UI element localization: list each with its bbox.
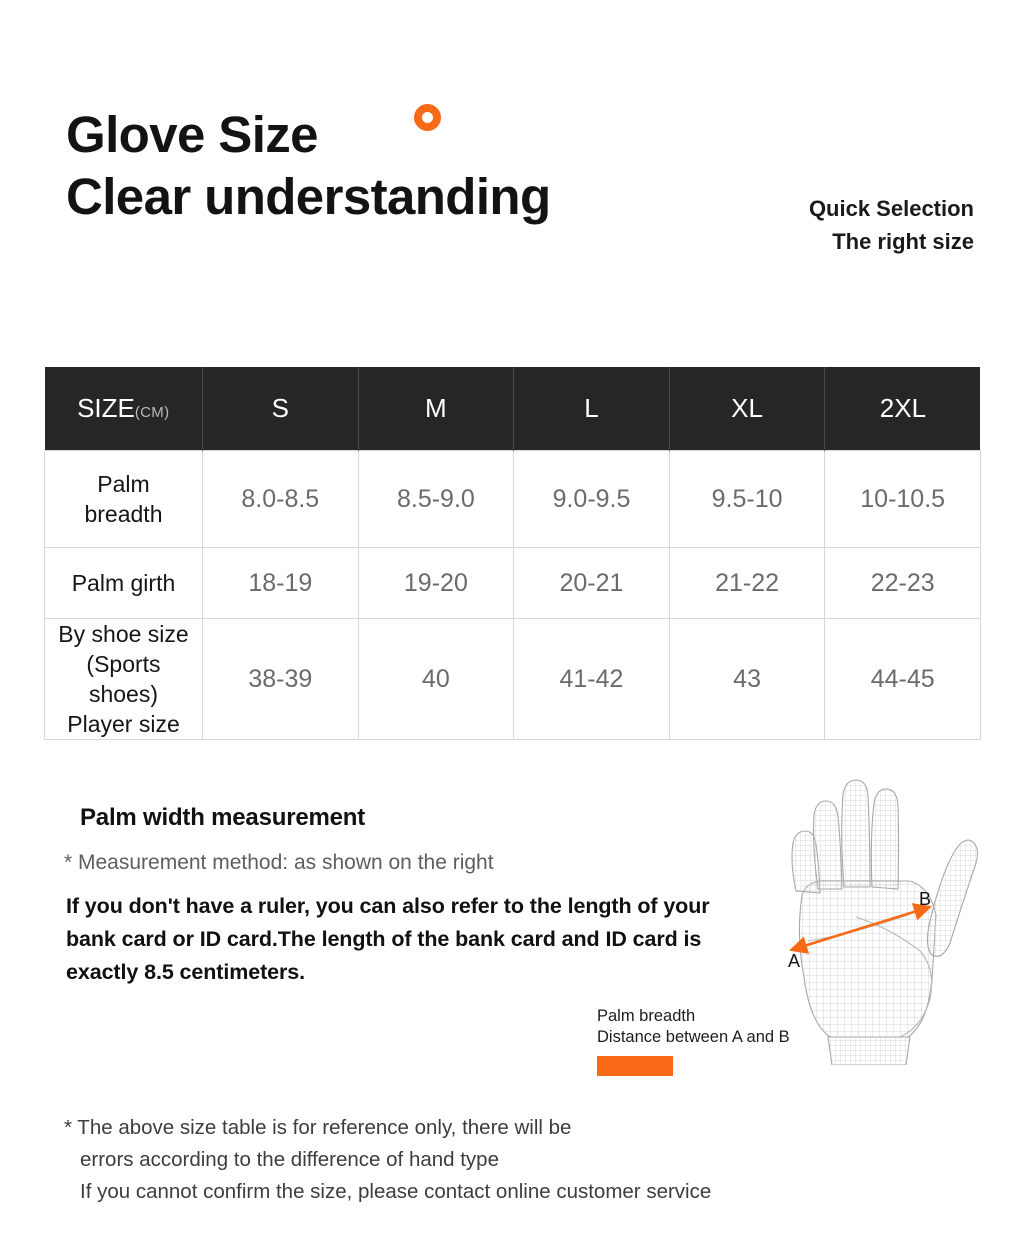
table-header-row: SIZE(CM) S M L XL 2XL	[45, 367, 981, 451]
table-row: Palm breadth 8.0-8.5 8.5-9.0 9.0-9.5 9.5…	[45, 451, 981, 548]
row-label-line: Palm girth	[45, 568, 202, 598]
row-label-shoe-size: By shoe size (Sports shoes) Player size	[45, 619, 203, 740]
row-label-line: Palm	[45, 469, 202, 499]
footer-line-2: errors according to the difference of ha…	[64, 1144, 964, 1176]
row-label-line: (Sports shoes)	[45, 649, 202, 709]
table-cell: 41-42	[514, 619, 670, 740]
table-cell: 10-10.5	[825, 451, 981, 548]
orange-swatch	[597, 1056, 673, 1076]
table-cell: 43	[669, 619, 825, 740]
header-subtitle: Quick Selection The right size	[809, 192, 974, 258]
table-cell: 20-21	[514, 548, 670, 619]
table-cell: 22-23	[825, 548, 981, 619]
subtitle-line-2: The right size	[809, 225, 974, 258]
index-finger	[871, 789, 898, 889]
header-block: Glove Size Clear understanding Quick Sel…	[0, 0, 1024, 300]
title-line-1-text: Glove Size	[66, 106, 318, 163]
point-b-label: B	[919, 889, 931, 909]
table-cell: 18-19	[203, 548, 359, 619]
title-line-1: Glove Size	[66, 104, 551, 166]
table-header-xl: XL	[669, 367, 825, 451]
table-cell: 8.5-9.0	[358, 451, 514, 548]
table-row: Palm girth 18-19 19-20 20-21 21-22 22-23	[45, 548, 981, 619]
table-cell: 44-45	[825, 619, 981, 740]
table-cell: 8.0-8.5	[203, 451, 359, 548]
table-cell: 40	[358, 619, 514, 740]
table-header-s: S	[203, 367, 359, 451]
table-header-m: M	[358, 367, 514, 451]
wrist-cuff	[828, 1037, 910, 1065]
caption-line-2: Distance between A and B	[597, 1027, 827, 1048]
table-row: By shoe size (Sports shoes) Player size …	[45, 619, 981, 740]
thumb	[927, 840, 977, 956]
table-header-2xl: 2XL	[825, 367, 981, 451]
row-label-palm-breadth: Palm breadth	[45, 451, 203, 548]
point-a-label: A	[788, 951, 800, 971]
size-chart-table: SIZE(CM) S M L XL 2XL Palm breadth 8.0-8…	[44, 367, 981, 740]
table-cell: 9.5-10	[669, 451, 825, 548]
table-header-l: L	[514, 367, 670, 451]
title-line-2: Clear understanding	[66, 166, 551, 228]
table-cell: 38-39	[203, 619, 359, 740]
page-title: Glove Size Clear understanding	[66, 104, 551, 228]
row-label-line: By shoe size	[45, 619, 202, 649]
table-header-unit: (CM)	[135, 404, 170, 421]
measurement-heading: Palm width measurement	[80, 804, 365, 832]
caption-line-1: Palm breadth	[597, 1006, 827, 1027]
measurement-method-note: * Measurement method: as shown on the ri…	[64, 851, 494, 875]
row-label-line: breadth	[45, 499, 202, 529]
illustration-caption: Palm breadth Distance between A and B	[597, 1006, 827, 1048]
measurement-paragraph: If you don't have a ruler, you can also …	[66, 890, 726, 989]
ring-dot-icon	[414, 104, 441, 131]
row-label-line: Player size	[45, 709, 202, 739]
footer-note: * The above size table is for reference …	[64, 1112, 964, 1208]
table-cell: 19-20	[358, 548, 514, 619]
table-cell: 9.0-9.5	[514, 451, 670, 548]
row-label-palm-girth: Palm girth	[45, 548, 203, 619]
ring-finger	[814, 801, 843, 889]
table-header-size: SIZE(CM)	[45, 367, 203, 451]
table-header-size-text: SIZE	[77, 393, 135, 423]
footer-line-1: * The above size table is for reference …	[64, 1112, 964, 1144]
subtitle-line-1: Quick Selection	[809, 192, 974, 225]
table-cell: 21-22	[669, 548, 825, 619]
footer-line-3: If you cannot confirm the size, please c…	[64, 1176, 964, 1208]
middle-finger	[842, 780, 870, 887]
